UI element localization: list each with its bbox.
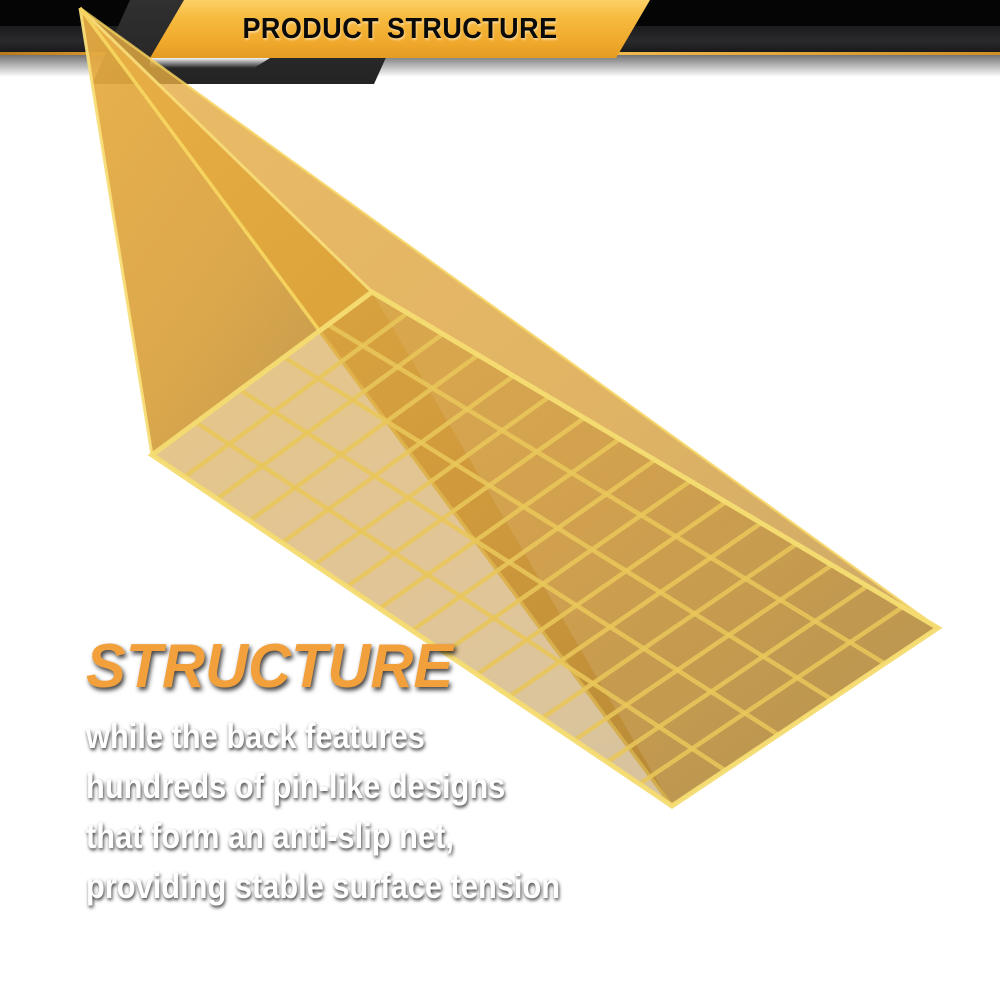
caption-line: providing stable surface tension: [86, 862, 632, 912]
caption-block: STRUCTURE while the back features hundre…: [86, 636, 706, 912]
product-structure-infographic: PRODUCT STRUCTURE STRUCTURE while the ba…: [0, 0, 1000, 1000]
caption-headline: STRUCTURE: [86, 636, 681, 698]
banner-highlight-nub: [150, 58, 270, 68]
caption-line: that form an anti-slip net,: [86, 812, 632, 862]
caption-body: while the back features hundreds of pin-…: [86, 712, 706, 912]
caption-line: hundreds of pin-like designs: [86, 762, 632, 812]
caption-line: while the back features: [86, 712, 632, 762]
page-title: PRODUCT STRUCTURE: [168, 0, 633, 58]
